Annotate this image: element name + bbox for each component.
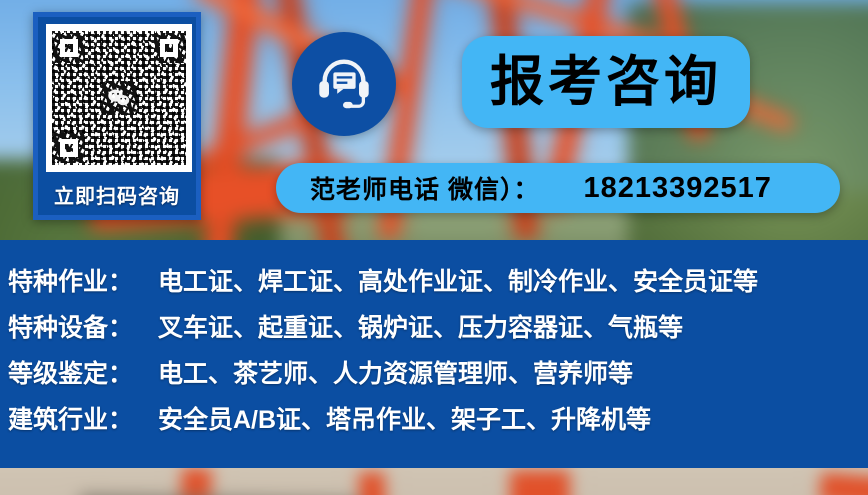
info-row-items: 叉车证、起重证、锅炉证、压力容器证、气瓶等 — [158, 308, 683, 344]
scaffold-bar — [819, 472, 868, 495]
info-row-category: 建筑行业： — [8, 400, 158, 436]
info-row: 等级鉴定： 电工、茶艺师、人力资源管理师、营养师等 — [8, 354, 868, 400]
qr-card-label: 立即扫码咨询 — [38, 180, 196, 209]
info-row: 特种设备： 叉车证、起重证、锅炉证、压力容器证、气瓶等 — [8, 308, 868, 354]
info-row-category: 特种作业： — [8, 262, 158, 298]
info-row-category: 等级鉴定： — [8, 354, 158, 390]
title-badge: 报考咨询 — [462, 36, 750, 128]
info-row-items: 电工证、焊工证、高处作业证、制冷作业、安全员证等 — [158, 262, 758, 298]
page-title: 报考咨询 — [490, 55, 722, 109]
contact-phone-number[interactable]: 18213392517 — [583, 172, 771, 205]
scaffold-bar — [178, 468, 213, 495]
qr-finder-icon — [54, 133, 84, 163]
qr-finder-icon — [154, 33, 184, 63]
qr-code-image — [52, 31, 186, 165]
certification-info-panel: 特种作业： 电工证、焊工证、高处作业证、制冷作业、安全员证等 特种设备： 叉车证… — [0, 240, 868, 468]
qr-code-card[interactable]: 立即扫码咨询 — [33, 12, 201, 220]
scaffold-bar — [510, 470, 570, 495]
scaffold-bar — [358, 471, 387, 495]
contact-bar[interactable]: 范老师电话 微信）： 18213392517 — [276, 163, 840, 213]
qr-code-frame — [46, 24, 192, 172]
qr-finder-icon — [54, 33, 84, 63]
promo-poster: 立即扫码咨询 报考咨询 范老师电话 微信）： 18213392517 特种作业：… — [0, 0, 868, 495]
headset-chat-icon — [292, 32, 396, 136]
info-row-items: 电工、茶艺师、人力资源管理师、营养师等 — [158, 354, 633, 390]
wechat-icon — [102, 81, 136, 115]
info-row: 建筑行业： 安全员A/B证、塔吊作业、架子工、升降机等 — [8, 400, 868, 446]
bottom-background-strip — [0, 468, 868, 495]
bottom-background-blur — [0, 468, 868, 495]
info-row-items: 安全员A/B证、塔吊作业、架子工、升降机等 — [158, 400, 651, 436]
info-row: 特种作业： 电工证、焊工证、高处作业证、制冷作业、安全员证等 — [8, 262, 868, 308]
info-row-category: 特种设备： — [8, 308, 158, 344]
contact-label: 范老师电话 微信）： — [310, 170, 539, 206]
